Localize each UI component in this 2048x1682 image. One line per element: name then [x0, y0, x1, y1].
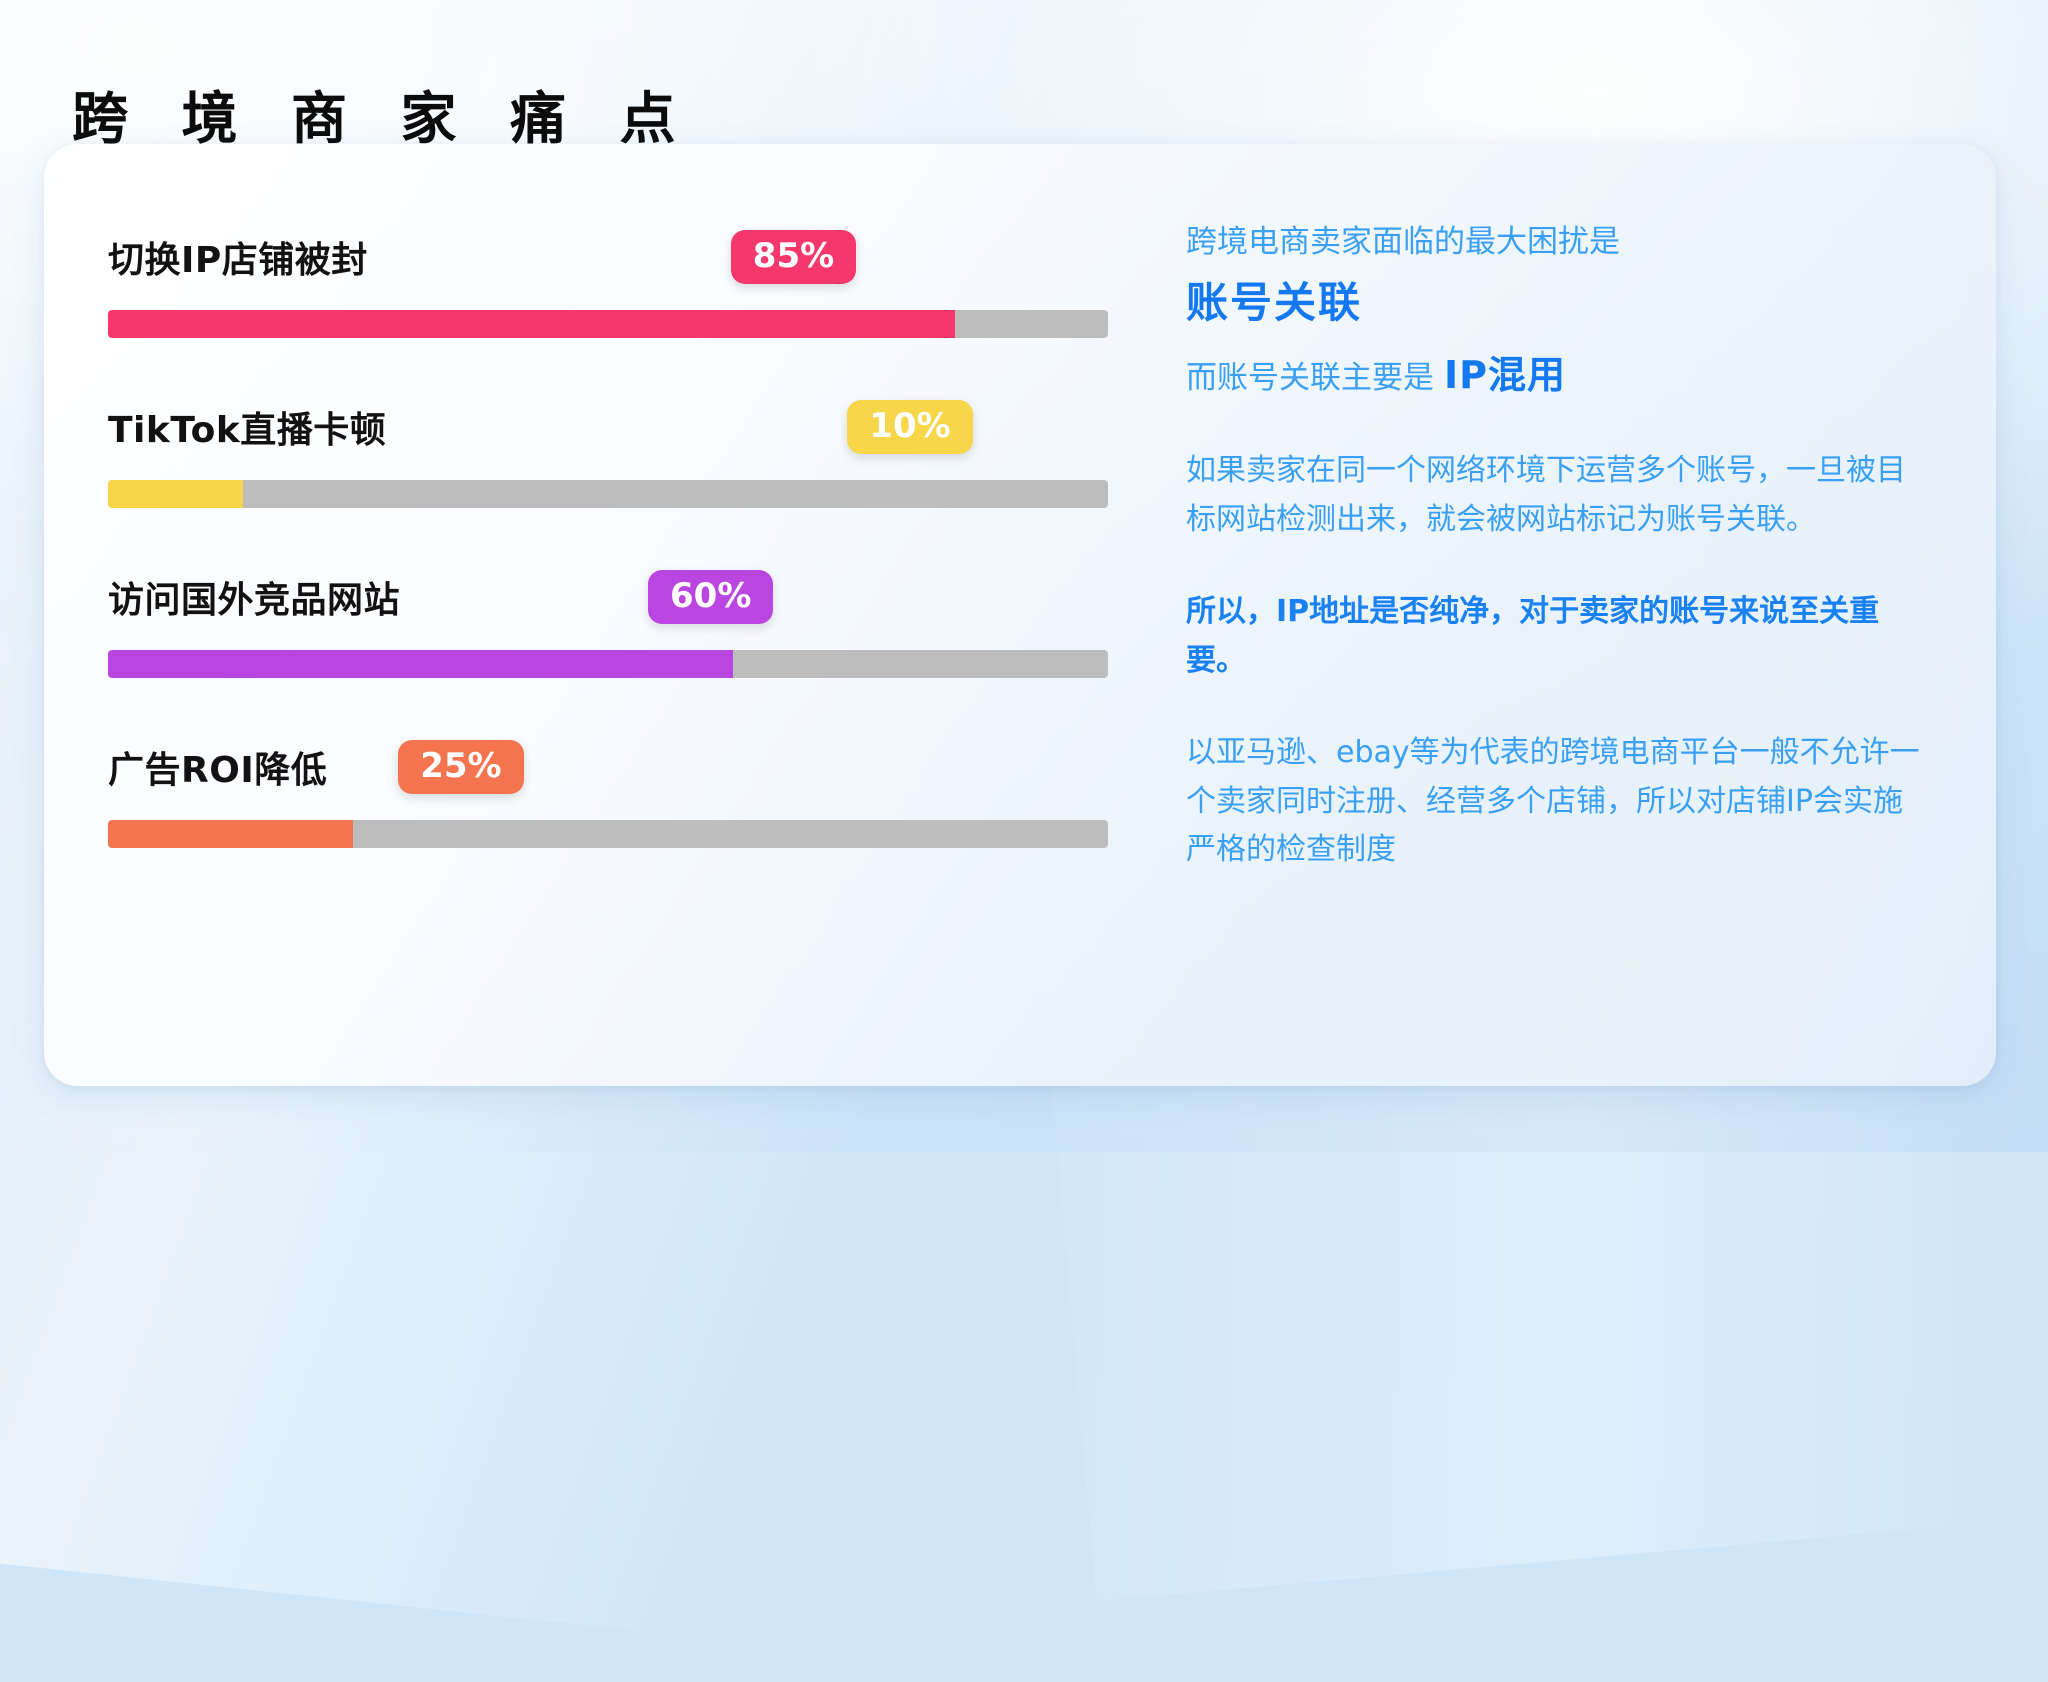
copy-headline: 账号关联 [1186, 273, 1926, 334]
bar-track [108, 650, 1108, 678]
bar-row: 访问国外竞品网站 60% [108, 558, 1164, 728]
content-card: 切换IP店铺被封 85% TikTok直播卡顿 10% 访问国外竞品网站 60% [44, 144, 1996, 1086]
copy-subline-prefix: 而账号关联主要是 [1186, 360, 1434, 396]
explanation-panel: 跨境电商卖家面临的最大困扰是 账号关联 而账号关联主要是IP混用 如果卖家在同一… [1164, 144, 1996, 1086]
bar-fill [108, 650, 733, 678]
pain-points-bar-chart: 切换IP店铺被封 85% TikTok直播卡顿 10% 访问国外竞品网站 60% [44, 144, 1164, 1086]
bar-label: TikTok直播卡顿 [108, 401, 386, 453]
bar-value-badge: 25% [398, 740, 523, 794]
bar-label: 切换IP店铺被封 [108, 231, 368, 283]
bar-fill [108, 480, 243, 508]
copy-subline: 而账号关联主要是IP混用 [1186, 348, 1926, 403]
bar-fill [108, 310, 955, 338]
bar-fill [108, 820, 353, 848]
bar-header: 广告ROI降低 25% [108, 728, 1164, 806]
bar-row: 切换IP店铺被封 85% [108, 218, 1164, 388]
copy-paragraph-2: 所以，IP地址是否纯净，对于卖家的账号来说至关重要。 [1186, 588, 1926, 685]
copy-paragraph-1: 如果卖家在同一个网络环境下运营多个账号，一旦被目标网站检测出来，就会被网站标记为… [1186, 447, 1926, 544]
bar-track [108, 310, 1108, 338]
bar-header: TikTok直播卡顿 10% [108, 388, 1164, 466]
bar-row: TikTok直播卡顿 10% [108, 388, 1164, 558]
page-title: 跨 境 商 家 痛 点 [72, 92, 692, 148]
copy-lead: 跨境电商卖家面临的最大困扰是 [1186, 220, 1926, 265]
bar-label: 广告ROI降低 [108, 741, 327, 793]
bar-header: 切换IP店铺被封 85% [108, 218, 1164, 296]
bar-track [108, 480, 1108, 508]
bar-label: 访问国外竞品网站 [108, 571, 400, 623]
bar-header: 访问国外竞品网站 60% [108, 558, 1164, 636]
copy-paragraph-3: 以亚马逊、ebay等为代表的跨境电商平台一般不允许一个卖家同时注册、经营多个店铺… [1186, 729, 1926, 875]
bar-value-badge: 10% [847, 400, 972, 454]
bar-value-badge: 60% [648, 570, 773, 624]
copy-subline-emphasis: IP混用 [1444, 353, 1566, 397]
bar-track [108, 820, 1108, 848]
bar-value-badge: 85% [731, 230, 856, 284]
bar-row: 广告ROI降低 25% [108, 728, 1164, 898]
